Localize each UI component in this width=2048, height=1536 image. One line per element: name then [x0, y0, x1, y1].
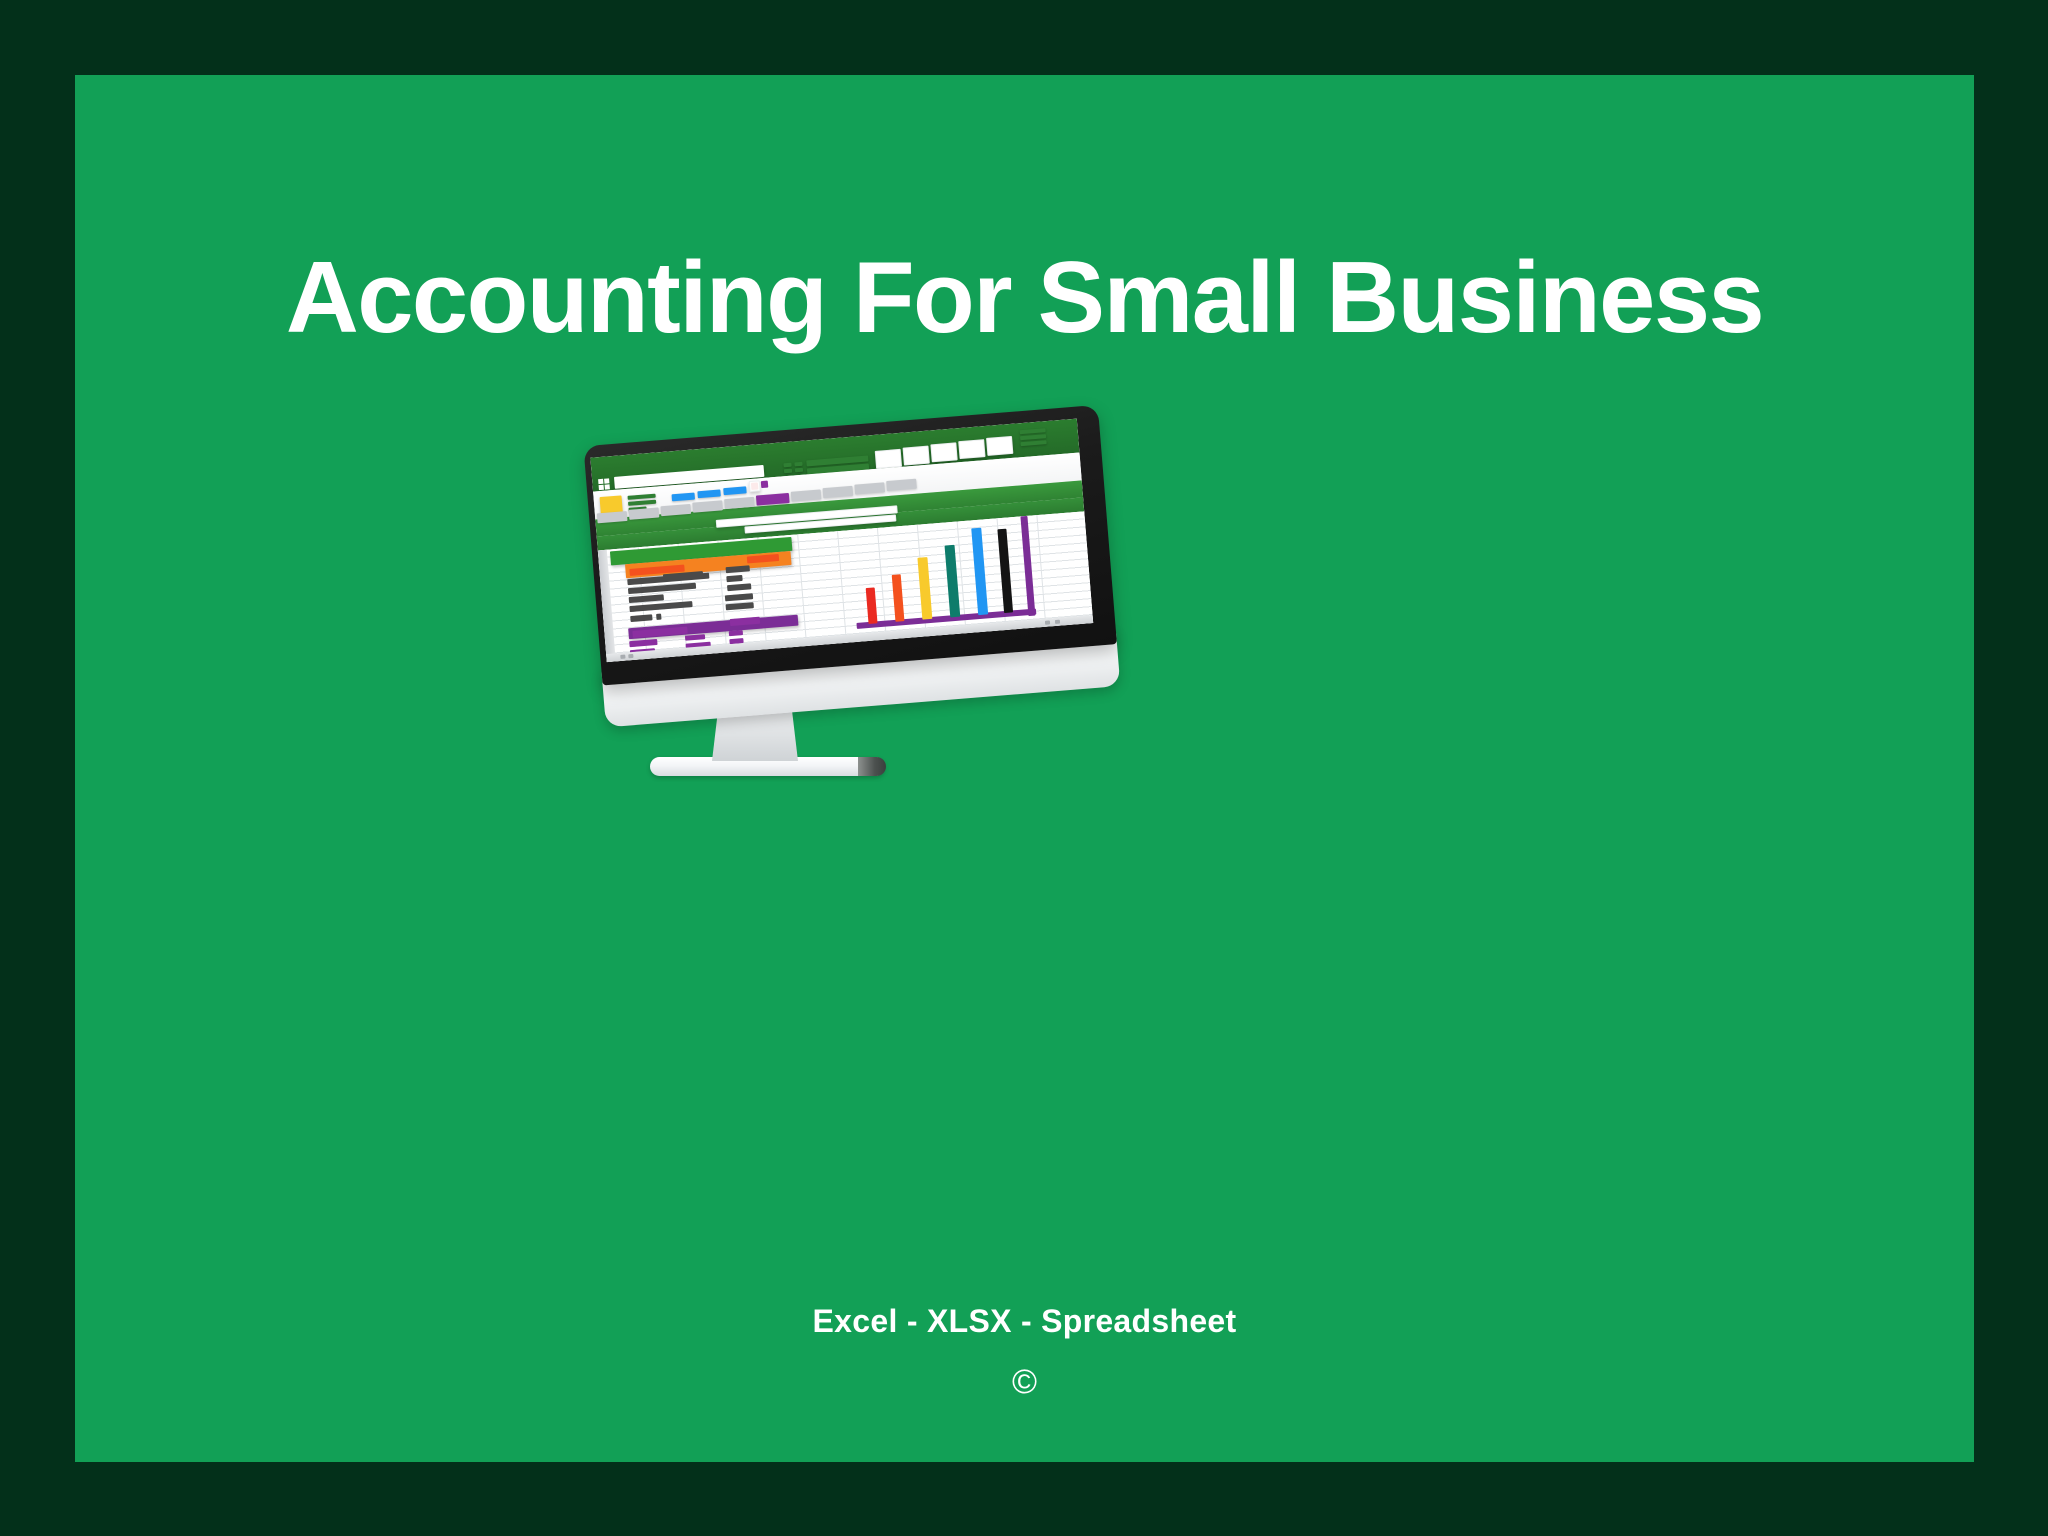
monitor-bezel: [583, 405, 1117, 686]
monitor-illustration: [545, 365, 1165, 815]
toolbar-swatch-purple[interactable]: [761, 481, 769, 489]
toolbar-field[interactable]: [749, 480, 761, 492]
spreadsheet-app: [590, 419, 1093, 662]
ribbon-chip[interactable]: [794, 462, 802, 467]
value-bar: [726, 575, 742, 582]
tab-box[interactable]: [986, 436, 1013, 456]
caption-text: Excel - XLSX - Spreadsheet: [75, 1303, 1974, 1340]
status-chip[interactable]: [1045, 620, 1050, 624]
ribbon-chip[interactable]: [795, 468, 803, 473]
data-bar: [656, 614, 661, 620]
page-title: Accounting For Small Business: [75, 245, 1974, 351]
waffle-grid-icon[interactable]: [598, 478, 610, 490]
tab-box[interactable]: [875, 449, 902, 469]
copyright-symbol: ©: [75, 1365, 1974, 1399]
monitor-body: [591, 406, 1113, 745]
status-chip[interactable]: [628, 654, 633, 658]
monitor-screen: [590, 419, 1093, 662]
monitor-base-cap: [858, 757, 886, 776]
tab-box[interactable]: [958, 439, 985, 459]
status-chip[interactable]: [620, 655, 625, 659]
tab-box[interactable]: [930, 442, 957, 462]
status-chip[interactable]: [1055, 620, 1060, 624]
ribbon-chip[interactable]: [783, 463, 791, 468]
ribbon-chip[interactable]: [784, 469, 792, 474]
tab-box[interactable]: [903, 446, 930, 466]
poster-panel: Accounting For Small Business: [75, 75, 1974, 1462]
